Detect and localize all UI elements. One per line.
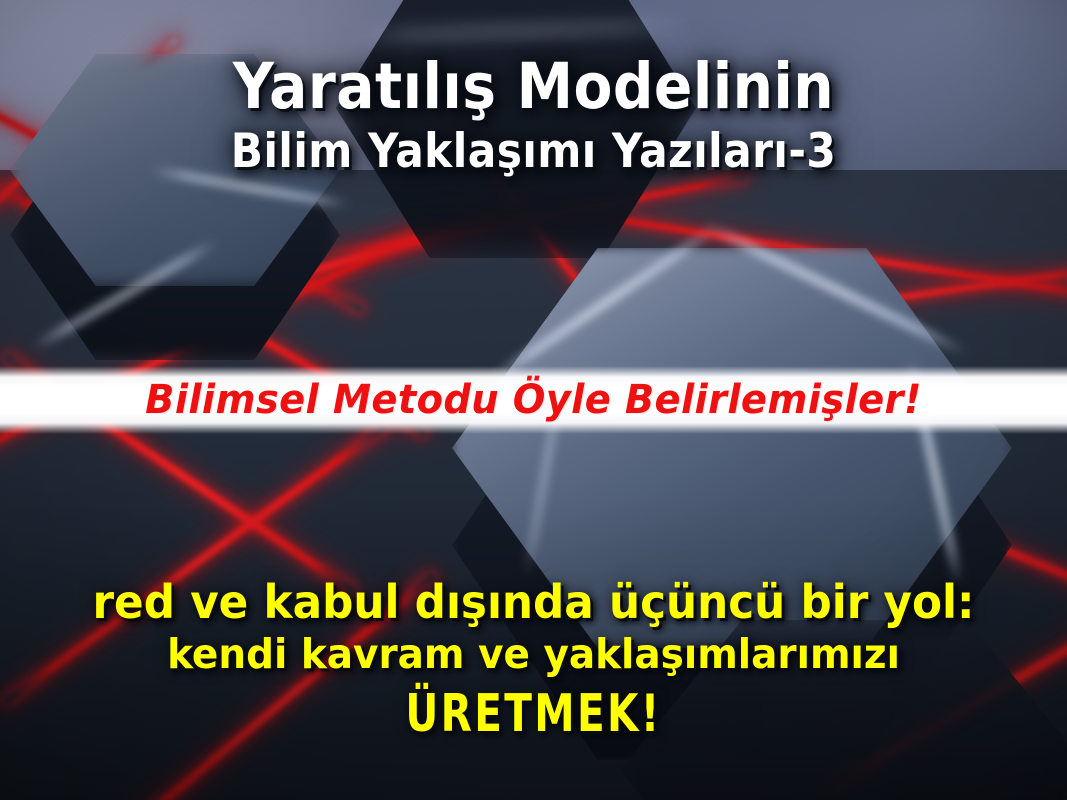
callout-line-1: red ve kabul dışında üçüncü bir yol: bbox=[27, 575, 1041, 629]
headline-banner: Bilimsel Metodu Öyle Belirlemişler! bbox=[0, 366, 1067, 434]
callout-line-3: ÜRETMEK! bbox=[117, 683, 949, 745]
headline-banner-text: Bilimsel Metodu Öyle Belirlemişler! bbox=[145, 377, 922, 423]
callout-block: red ve kabul dışında üçüncü bir yol: ken… bbox=[0, 575, 1067, 745]
title-line-1: Yaratılış Modelinin bbox=[53, 52, 1013, 122]
title-block: Yaratılış Modelinin Bilim Yaklaşımı Yazı… bbox=[0, 52, 1067, 180]
poster-canvas: Yaratılış Modelinin Bilim Yaklaşımı Yazı… bbox=[0, 0, 1067, 800]
title-line-2: Bilim Yaklaşımı Yazıları-3 bbox=[53, 124, 1013, 180]
callout-line-2: kendi kavram ve yaklaşımlarımızı bbox=[27, 629, 1041, 679]
